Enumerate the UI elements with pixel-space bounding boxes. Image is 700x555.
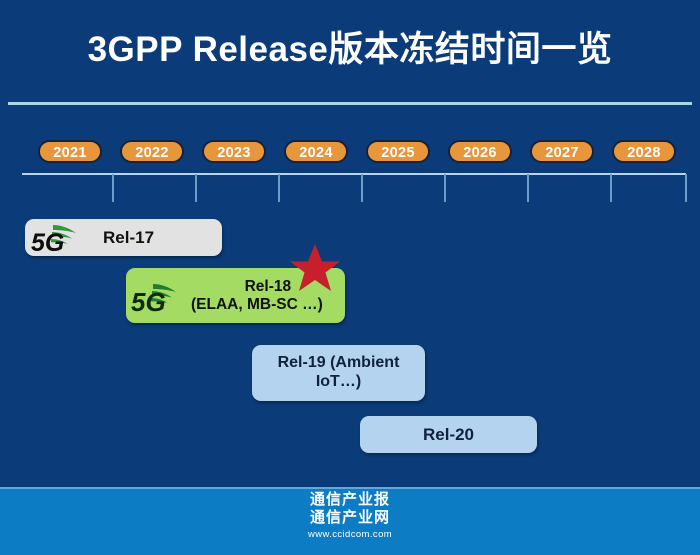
5g-logo-icon: 5G (131, 280, 187, 312)
release-label-rel19-line1: Rel-19 (Ambient (278, 354, 400, 371)
release-label-rel20: Rel-20 (423, 425, 474, 445)
year-pill-2027: 2027 (530, 140, 594, 163)
svg-text:5G: 5G (131, 287, 166, 314)
year-pill-2028: 2028 (612, 140, 676, 163)
year-pill-2023: 2023 (202, 140, 266, 163)
footer-brand-line2: 通信产业网 (0, 509, 700, 527)
release-label-rel19-line2: IoT…) (316, 373, 361, 390)
title-divider (8, 102, 692, 105)
axis-tick-3 (278, 174, 280, 202)
release-bar-rel20: Rel-20 (360, 416, 537, 453)
year-pill-2025: 2025 (366, 140, 430, 163)
axis-tick-1 (112, 174, 114, 202)
footer-brand-line1: 通信产业报 (0, 491, 700, 509)
red-star-icon (289, 243, 341, 293)
axis-tick-4 (361, 174, 363, 202)
page-title: 3GPP Release版本冻结时间一览 (0, 28, 700, 72)
release-label-rel17: Rel-17 (103, 228, 154, 248)
year-pill-2022: 2022 (120, 140, 184, 163)
axis-tick-6 (527, 174, 529, 202)
footer-url: www.ccidcom.com (0, 528, 700, 542)
infographic-slide: 3GPP Release版本冻结时间一览 2021 2022 2023 2024… (0, 0, 700, 555)
year-pill-2021: 2021 (38, 140, 102, 163)
footer-logo: 通信产业报 通信产业网 www.ccidcom.com (0, 491, 700, 542)
axis-tick-8 (685, 174, 687, 202)
svg-text:5G: 5G (31, 229, 64, 254)
release-label-rel18-line2: (ELAA, MB-SC …) (191, 296, 323, 314)
timeline-axis: 2021 2022 2023 2024 2025 2026 2027 2028 (0, 140, 700, 206)
release-bar-rel17: 5G Rel-17 (25, 219, 222, 256)
axis-tick-5 (444, 174, 446, 202)
release-label-rel19: Rel-19 (Ambient IoT…) (252, 354, 425, 391)
axis-tick-2 (195, 174, 197, 202)
year-pill-2024: 2024 (284, 140, 348, 163)
axis-tick-7 (610, 174, 612, 202)
release-bar-rel19: Rel-19 (Ambient IoT…) (252, 345, 425, 401)
axis-baseline (22, 173, 686, 175)
year-pill-2026: 2026 (448, 140, 512, 163)
5g-logo-icon: 5G (31, 222, 87, 254)
